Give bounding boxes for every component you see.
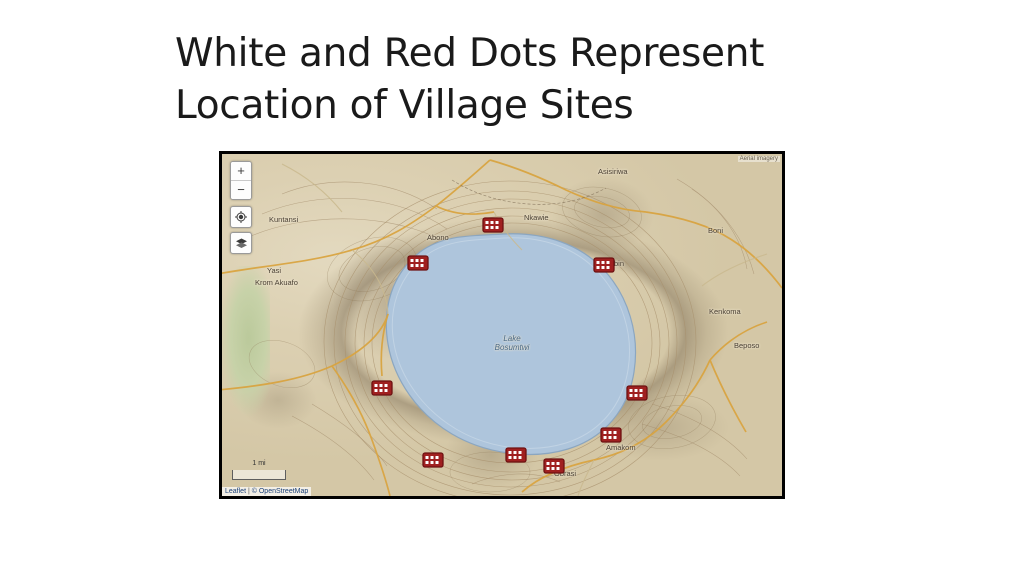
village-pin-icon: [407, 253, 429, 273]
map-figure: Asisiriwa Nkawie Boni Kuntansi Abono Dwa…: [219, 151, 785, 499]
zoom-controls[interactable]: + −: [230, 161, 252, 200]
page-title: White and Red Dots Represent Location of…: [175, 28, 875, 132]
lake-name-label: Lake Bosumtwi: [477, 334, 547, 352]
place-label-krom-akuafo: Krom Akuafo: [255, 278, 298, 287]
place-label-beposo: Beposo: [734, 341, 759, 350]
map-attribution[interactable]: Leaflet | © OpenStreetMap: [222, 487, 311, 496]
place-label-nkawie: Nkawie: [524, 213, 549, 222]
village-marker-4[interactable]: [371, 378, 393, 400]
page-title-line-1: White and Red Dots Represent: [175, 28, 875, 80]
village-pin-icon: [600, 425, 622, 445]
place-label-kenkoma: Kenkoma: [709, 307, 741, 316]
page-title-line-2: Location of Village Sites: [175, 80, 875, 132]
map-canvas[interactable]: Asisiriwa Nkawie Boni Kuntansi Abono Dwa…: [222, 154, 782, 496]
zoom-out-button[interactable]: −: [231, 181, 251, 199]
village-marker-8[interactable]: [505, 445, 527, 467]
village-marker-7[interactable]: [422, 450, 444, 472]
place-label-kuntansi: Kuntansi: [269, 215, 298, 224]
village-marker-3[interactable]: [593, 255, 615, 277]
lake-name-line-1: Lake: [477, 334, 547, 343]
village-pin-icon: [626, 383, 648, 403]
village-pin-icon: [422, 450, 444, 470]
imagery-credit: Aerial imagery: [738, 156, 780, 162]
village-marker-2[interactable]: [407, 253, 429, 275]
place-label-abono: Abono: [427, 233, 449, 242]
village-pin-icon: [543, 456, 565, 476]
leaflet-link[interactable]: Leaflet: [225, 488, 246, 495]
layers-button[interactable]: [230, 232, 252, 254]
lake-name-line-2: Bosumtwi: [477, 343, 547, 352]
crosshair-icon: [235, 211, 247, 223]
village-pin-icon: [371, 378, 393, 398]
road-network: [222, 154, 782, 496]
place-label-yasi: Yasi: [267, 266, 281, 275]
village-marker-1[interactable]: [482, 215, 504, 237]
openstreetmap-credit[interactable]: © OpenStreetMap: [252, 488, 309, 495]
village-pin-icon: [505, 445, 527, 465]
place-label-boni: Boni: [708, 226, 723, 235]
village-pin-icon: [482, 215, 504, 235]
village-marker-5[interactable]: [626, 383, 648, 405]
scale-bar-label: 1 mi: [233, 460, 285, 467]
village-pin-icon: [593, 255, 615, 275]
place-label-asisiriwa: Asisiriwa: [598, 167, 628, 176]
locate-button[interactable]: [230, 206, 252, 228]
village-marker-6[interactable]: [600, 425, 622, 447]
zoom-in-button[interactable]: +: [231, 162, 251, 181]
layers-icon: [235, 237, 248, 250]
scale-bar: 1 mi: [232, 470, 286, 480]
village-marker-9[interactable]: [543, 456, 565, 478]
